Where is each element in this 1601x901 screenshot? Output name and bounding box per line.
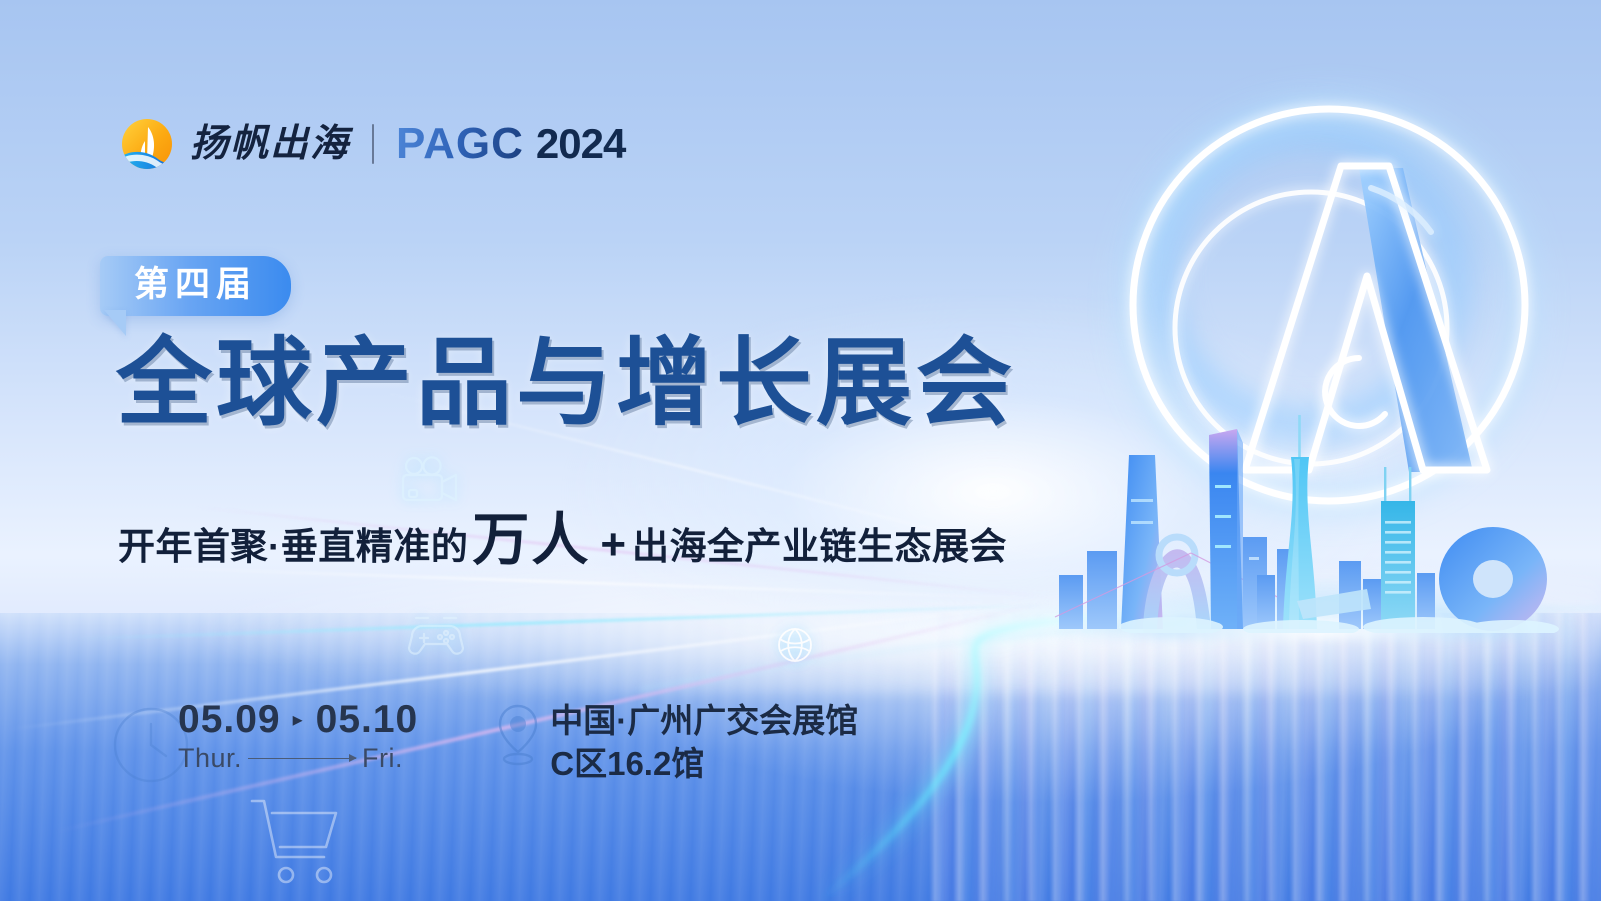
hero-artwork — [1041, 0, 1601, 901]
weekday-start: Thur. — [178, 743, 242, 774]
subtitle-plus: + — [594, 520, 632, 570]
guangzhou-skyline — [1051, 403, 1591, 633]
subtitle-highlight: 万人 — [468, 494, 594, 576]
shopping-cart-icon — [248, 795, 344, 887]
event-weekday-range: Thur. Fri. — [178, 743, 418, 774]
event-poster: 扬帆出海 PAGC 2024 第四届 全球产品与增长展会 开年首聚·垂直精准的 … — [0, 0, 1601, 901]
event-venue-text: 中国·广州广交会展馆 C区16.2馆 — [550, 700, 858, 786]
event-date-range: 05.09 ▸ 05.10 — [178, 700, 418, 741]
brand-name-cn: 扬帆出海 — [190, 125, 350, 163]
edition-badge: 第四届 — [100, 256, 291, 316]
skyline-base-glow — [1041, 569, 1601, 639]
event-date-block: 05.09 ▸ 05.10 Thur. Fri. — [120, 700, 418, 774]
globe-icon — [775, 625, 815, 665]
event-date-text: 05.09 ▸ 05.10 Thur. Fri. — [120, 700, 418, 774]
event-logotype-letters: PAGC — [396, 122, 524, 166]
subtitle-part2: 出海全产业链生态展会 — [632, 516, 1007, 570]
light-ray — [71, 604, 1050, 641]
gamepad-icon — [405, 612, 467, 658]
sailboat-sun-icon — [118, 115, 176, 173]
page-subtitle: 开年首聚·垂直精准的 万人 + 出海全产业链生态展会 — [118, 494, 1007, 576]
edition-badge-wrap: 第四届 — [100, 256, 291, 316]
event-logotype-year: 2024 — [536, 123, 625, 165]
event-logotype: PAGC 2024 — [396, 122, 625, 166]
venue-line-2: C区16.2馆 — [550, 743, 858, 786]
page-title: 全球产品与增长展会 — [116, 336, 1016, 432]
venue-line-1: 中国·广州广交会展馆 — [550, 700, 858, 743]
date-end: 05.10 — [316, 700, 419, 741]
weekday-arrow-icon — [248, 758, 356, 760]
subtitle-part1: 开年首聚·垂直精准的 — [118, 516, 468, 570]
neon-halo — [1107, 78, 1507, 478]
center-light-burst — [393, 211, 1593, 771]
date-start: 05.09 — [178, 700, 281, 741]
date-arrow-icon: ▸ — [293, 710, 304, 730]
event-venue-block: 中国·广州广交会展馆 C区16.2馆 — [496, 700, 858, 786]
water-reflection — [929, 613, 1601, 901]
weekday-end: Fri. — [362, 743, 403, 774]
neon-a-monogram — [1041, 40, 1601, 660]
brand-divider — [372, 124, 374, 164]
event-info: 05.09 ▸ 05.10 Thur. Fri. 中国·广州广交会展馆 C区16 — [120, 700, 858, 786]
brand-header: 扬帆出海 PAGC 2024 — [118, 115, 625, 173]
map-pin-icon — [496, 704, 540, 766]
video-camera-icon — [398, 455, 464, 507]
